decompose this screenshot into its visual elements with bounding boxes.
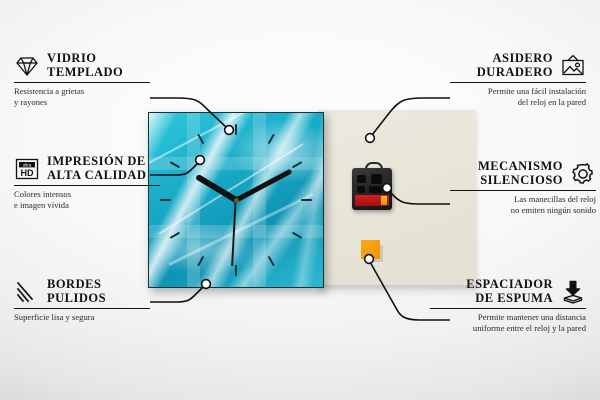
svg-text:ultra: ultra xyxy=(23,162,32,167)
feature-title-line2: DURADERO xyxy=(477,66,553,80)
feature-title-line1: ESPACIADOR xyxy=(466,278,553,292)
polished-edges-icon xyxy=(14,280,40,304)
svg-text:HD: HD xyxy=(21,168,34,178)
feature-asidero-duradero: ASIDERO DURADERO Permite una fácil insta… xyxy=(450,52,586,107)
foam-spacer-arrow-icon xyxy=(560,280,586,304)
diamond-icon xyxy=(14,54,40,78)
feature-title-line1: ASIDERO xyxy=(477,52,553,66)
feature-desc-line1: Permite mantener una distancia xyxy=(430,312,586,323)
connector-dot-mecanismo xyxy=(383,184,392,193)
feature-divider xyxy=(430,308,586,309)
feature-divider xyxy=(450,190,596,191)
feature-title-line1: VIDRIO xyxy=(47,52,123,66)
feature-title-line2: DE ESPUMA xyxy=(466,292,553,306)
connector-dot-espaciador xyxy=(365,255,374,264)
ultra-hd-icon: ultra HD xyxy=(14,157,40,181)
feature-desc-line2: y rayones xyxy=(14,97,150,108)
feature-desc-line1: Resistencia a grietas xyxy=(14,86,150,97)
feature-title-line2: PULIDOS xyxy=(47,292,106,306)
wall-hanger-picture-icon xyxy=(560,54,586,78)
feature-vidrio-templado: VIDRIO TEMPLADO Resistencia a grietas y … xyxy=(14,52,150,107)
connector-dot-vidrio xyxy=(225,126,234,135)
feature-desc-line2: no emiten ningún sonido xyxy=(450,205,596,216)
feature-desc-line1: Las manecillas del reloj xyxy=(450,194,596,205)
feature-desc-line1: Permite una fácil instalación xyxy=(450,86,586,97)
feature-espaciador-espuma: ESPACIADOR DE ESPUMA Permite mantener un… xyxy=(430,278,586,333)
feature-title-line2: SILENCIOSO xyxy=(478,174,563,188)
infographic-canvas: VIDRIO TEMPLADO Resistencia a grietas y … xyxy=(0,0,600,400)
feature-desc-line1: Superficie lisa y segura xyxy=(14,312,150,323)
feature-mecanismo-silencioso: MECANISMO SILENCIOSO Las manecillas del … xyxy=(450,160,596,215)
feature-title-line1: IMPRESIÓN DE xyxy=(47,155,146,169)
feature-desc-line2: e imagen vívida xyxy=(14,200,160,211)
connector-dot-impresion xyxy=(196,156,205,165)
connector-dot-bordes xyxy=(202,280,211,289)
feature-divider xyxy=(14,82,150,83)
connector-dot-asidero xyxy=(366,134,375,143)
feature-title-line2: ALTA CALIDAD xyxy=(47,169,146,183)
feature-bordes-pulidos: BORDES PULIDOS Superficie lisa y segura xyxy=(14,278,150,323)
feature-title-line1: BORDES xyxy=(47,278,106,292)
feature-desc-line1: Colores intensos xyxy=(14,189,160,200)
gear-icon xyxy=(570,162,596,186)
feature-title-line1: MECANISMO xyxy=(478,160,563,174)
feature-impresion-alta-calidad: ultra HD IMPRESIÓN DE ALTA CALIDAD Color… xyxy=(14,155,160,210)
feature-divider xyxy=(14,185,160,186)
feature-divider xyxy=(14,308,150,309)
feature-title-line2: TEMPLADO xyxy=(47,66,123,80)
feature-desc-line2: uniforme entre el reloj y la pared xyxy=(430,323,586,334)
feature-divider xyxy=(450,82,586,83)
feature-desc-line2: del reloj en la pared xyxy=(450,97,586,108)
